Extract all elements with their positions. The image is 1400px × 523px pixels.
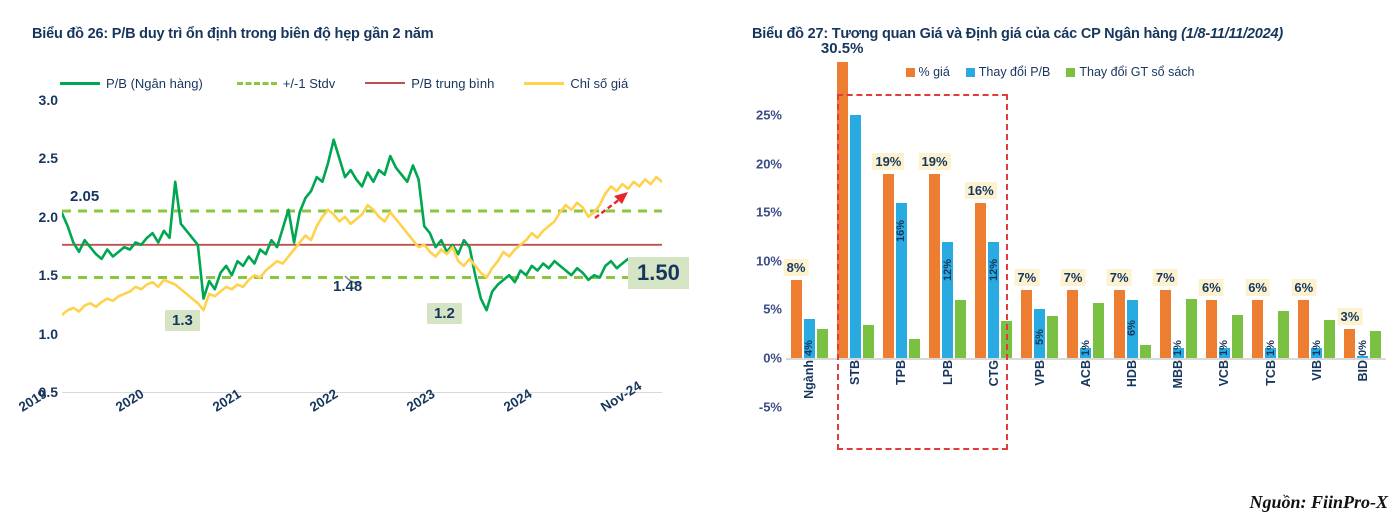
right-chart-plot-area: 8%4%30.5%19%16%19%12%16%12%7%5%7%1%7%6%7… xyxy=(786,96,1386,358)
legend-item-bookvalue-change: Thay đổi GT sổ sách xyxy=(1066,65,1194,79)
y-axis-tick: 20% xyxy=(756,156,782,171)
bar-group: 7%6% xyxy=(1109,96,1155,358)
bar-group: 6%1% xyxy=(1248,96,1294,358)
bar-price: 3% xyxy=(1344,329,1355,358)
bar-bookvalue xyxy=(1324,320,1335,358)
bar-price: 6% xyxy=(1206,300,1217,358)
legend-swatch-blue xyxy=(966,68,975,77)
bar-value-label: 1% xyxy=(1080,340,1092,356)
bar-pb: 1% xyxy=(1080,348,1091,358)
bar-group: 7%1% xyxy=(1063,96,1109,358)
x-axis-tick: CTG xyxy=(987,360,1001,386)
bar-value-label: 19% xyxy=(919,153,951,170)
bar-bookvalue xyxy=(1093,303,1104,358)
legend-label-stdv: +/-1 Stdv xyxy=(283,76,335,91)
bar-group: 3%0% xyxy=(1340,96,1386,358)
bar-pb: 0% xyxy=(1357,356,1368,358)
annotation-low-2020: 1.3 xyxy=(165,310,200,331)
left-chart-title: Biểu đồ 26: P/B duy trì ổn định trong bi… xyxy=(32,26,433,42)
bar-bookvalue xyxy=(1140,345,1151,358)
bar-value-label: 0% xyxy=(1357,340,1369,356)
y-axis-tick: 2.5 xyxy=(39,150,58,166)
legend-label-price-index: Chỉ số giá xyxy=(570,76,628,91)
bar-pb: 4% xyxy=(804,319,815,358)
legend-swatch-line-green xyxy=(60,82,100,85)
bar-group: 19%12% xyxy=(924,96,970,358)
bar-value-label: 7% xyxy=(1061,269,1086,286)
bar-group: 6%1% xyxy=(1294,96,1340,358)
legend-label-bookvalue-change: Thay đổi GT sổ sách xyxy=(1079,65,1194,79)
right-chart-title-period: (1/8-11/11/2024) xyxy=(1181,26,1283,42)
bar-pb: 6% xyxy=(1127,300,1138,358)
bar-value-label: 4% xyxy=(803,340,815,356)
x-axis-tick: TPB xyxy=(894,360,908,385)
bar-value-label: 6% xyxy=(1291,279,1316,296)
y-axis-tick: 0% xyxy=(763,351,782,366)
bar-value-label: 1% xyxy=(1265,340,1277,356)
bar-pb: 12% xyxy=(942,242,953,358)
y-axis-tick: -5% xyxy=(759,399,782,414)
bar-group: 8%4% xyxy=(786,96,832,358)
bar-group: 7%1% xyxy=(1155,96,1201,358)
bar-bookvalue xyxy=(1370,331,1381,358)
bar-price: 16% xyxy=(975,203,986,358)
bar-price: 8% xyxy=(791,280,802,358)
bar-bookvalue xyxy=(863,325,874,358)
legend-item-stdv: +/-1 Stdv xyxy=(237,76,335,91)
x-axis-tick: VPB xyxy=(1033,360,1047,386)
annotation-current-pb: 1.50 xyxy=(628,257,689,289)
bar-price: 19% xyxy=(929,174,940,358)
bar-bookvalue xyxy=(1232,315,1243,358)
legend-swatch-line-red xyxy=(365,82,405,84)
bar-price: 6% xyxy=(1298,300,1309,358)
bar-price: 19% xyxy=(883,174,894,358)
bar-value-label: 16% xyxy=(895,220,907,242)
legend-label-price-pct: % giá xyxy=(919,65,950,79)
bar-bookvalue xyxy=(955,300,966,358)
bar-pb: 12% xyxy=(988,242,999,358)
bar-value-label: 30.5% xyxy=(818,39,867,58)
bar-value-label: 7% xyxy=(1153,269,1178,286)
x-axis-tick: ACB xyxy=(1079,360,1093,387)
bar-value-label: 7% xyxy=(1107,269,1132,286)
bar-value-label: 6% xyxy=(1199,279,1224,296)
x-axis-tick: TCB xyxy=(1264,360,1278,386)
bar-pb: 1% xyxy=(1219,348,1230,358)
legend-label-pb-banking: P/B (Ngân hàng) xyxy=(106,76,203,91)
bar-bookvalue xyxy=(1047,316,1058,358)
bar-group: 7%5% xyxy=(1017,96,1063,358)
legend-swatch-orange xyxy=(906,68,915,77)
bar-pb: 16% xyxy=(896,203,907,358)
bar-value-label: 19% xyxy=(872,153,904,170)
y-axis-tick: 5% xyxy=(763,302,782,317)
right-chart-legend: % giá Thay đổi P/B Thay đổi GT sổ sách xyxy=(740,62,1360,82)
legend-swatch-line-yellow xyxy=(524,82,564,85)
y-axis-tick: 25% xyxy=(756,108,782,123)
source-note: Nguồn: FiinPro-X xyxy=(1249,492,1388,513)
bar-price: 7% xyxy=(1067,290,1078,358)
legend-label-pb-change: Thay đổi P/B xyxy=(979,65,1051,79)
bar-bookvalue xyxy=(1278,311,1289,358)
bar-value-label: 6% xyxy=(1126,320,1138,336)
y-axis-tick: 3.0 xyxy=(39,92,58,108)
left-chart-panel: Biểu đồ 26: P/B duy trì ổn định trong bi… xyxy=(0,0,700,523)
x-axis-tick: VCB xyxy=(1217,360,1231,386)
left-chart-y-axis: 3.02.52.01.51.00.5 xyxy=(18,100,58,392)
bar-price: 30.5% xyxy=(837,62,848,358)
legend-item-pb-average: P/B trung bình xyxy=(365,76,494,91)
bar-bookvalue xyxy=(1186,299,1197,358)
bar-group: 16%12% xyxy=(971,96,1017,358)
bar-pb: 1% xyxy=(1173,348,1184,358)
bar-value-label: 6% xyxy=(1245,279,1270,296)
legend-item-pb-change: Thay đổi P/B xyxy=(966,65,1051,79)
bar-group: 6%1% xyxy=(1201,96,1247,358)
legend-label-pb-average: P/B trung bình xyxy=(411,76,494,91)
legend-swatch-dashed-green xyxy=(237,82,277,85)
bar-value-label: 3% xyxy=(1338,308,1363,325)
x-axis-tick: HDB xyxy=(1125,360,1139,387)
bar-value-label: 8% xyxy=(784,259,809,276)
annotation-low-2022: 1.2 xyxy=(427,303,462,324)
bar-value-label: 5% xyxy=(1034,330,1046,346)
x-axis-tick: VIB xyxy=(1310,360,1324,381)
bar-price: 7% xyxy=(1021,290,1032,358)
annotation-upper-stdv: 2.05 xyxy=(70,188,99,205)
bar-value-label: 12% xyxy=(942,259,954,281)
y-axis-tick: 10% xyxy=(756,253,782,268)
bar-value-label: 1% xyxy=(1172,340,1184,356)
bar-bookvalue xyxy=(817,329,828,358)
bar-price: 6% xyxy=(1252,300,1263,358)
bar-pb: 1% xyxy=(1265,348,1276,358)
right-chart-title-main: Biểu đồ 27: Tương quan Giá và Định giá c… xyxy=(752,26,1177,42)
x-axis-tick: BID xyxy=(1356,360,1370,382)
right-chart-x-axis: NgànhSTBTPBLPBCTGVPBACBHDBMBBVCBTCBVIBBI… xyxy=(786,360,1386,455)
left-chart-legend: P/B (Ngân hàng) +/-1 Stdv P/B trung bình… xyxy=(60,72,680,94)
y-axis-tick: 1.0 xyxy=(39,326,58,342)
bar-value-label: 1% xyxy=(1311,340,1323,356)
legend-item-price-pct: % giá xyxy=(906,65,950,79)
bar-value-label: 7% xyxy=(1014,269,1039,286)
legend-item-pb-banking: P/B (Ngân hàng) xyxy=(60,76,203,91)
bar-bookvalue xyxy=(909,339,920,358)
bar-pb xyxy=(850,115,861,358)
bar-value-label: 1% xyxy=(1218,340,1230,356)
x-axis-tick: MBB xyxy=(1171,360,1185,388)
y-axis-tick: 2.0 xyxy=(39,209,58,225)
bar-pb: 5% xyxy=(1034,309,1045,358)
bar-value-label: 16% xyxy=(965,182,997,199)
legend-item-price-index: Chỉ số giá xyxy=(524,76,628,91)
bar-group: 30.5% xyxy=(832,96,878,358)
x-axis-tick: Ngành xyxy=(802,360,816,399)
bar-value-label: 12% xyxy=(988,259,1000,281)
y-axis-tick: 15% xyxy=(756,205,782,220)
right-chart-y-axis: 25%20%15%10%5%0%-5% xyxy=(736,96,782,410)
bar-group: 19%16% xyxy=(878,96,924,358)
x-axis-tick: STB xyxy=(848,360,862,385)
annotation-lower-stdv: 1.48 xyxy=(333,278,362,295)
bar-price: 7% xyxy=(1160,290,1171,358)
bar-price: 7% xyxy=(1114,290,1125,358)
bar-pb: 1% xyxy=(1311,348,1322,358)
y-axis-tick: 1.5 xyxy=(39,267,58,283)
left-chart-plot-area xyxy=(62,100,662,392)
x-axis-tick: LPB xyxy=(941,360,955,385)
left-chart-x-axis: 201920202021202220232024Nov-24 xyxy=(0,392,700,452)
left-chart-svg xyxy=(62,100,662,392)
bar-bookvalue xyxy=(1001,321,1012,358)
legend-swatch-green xyxy=(1066,68,1075,77)
